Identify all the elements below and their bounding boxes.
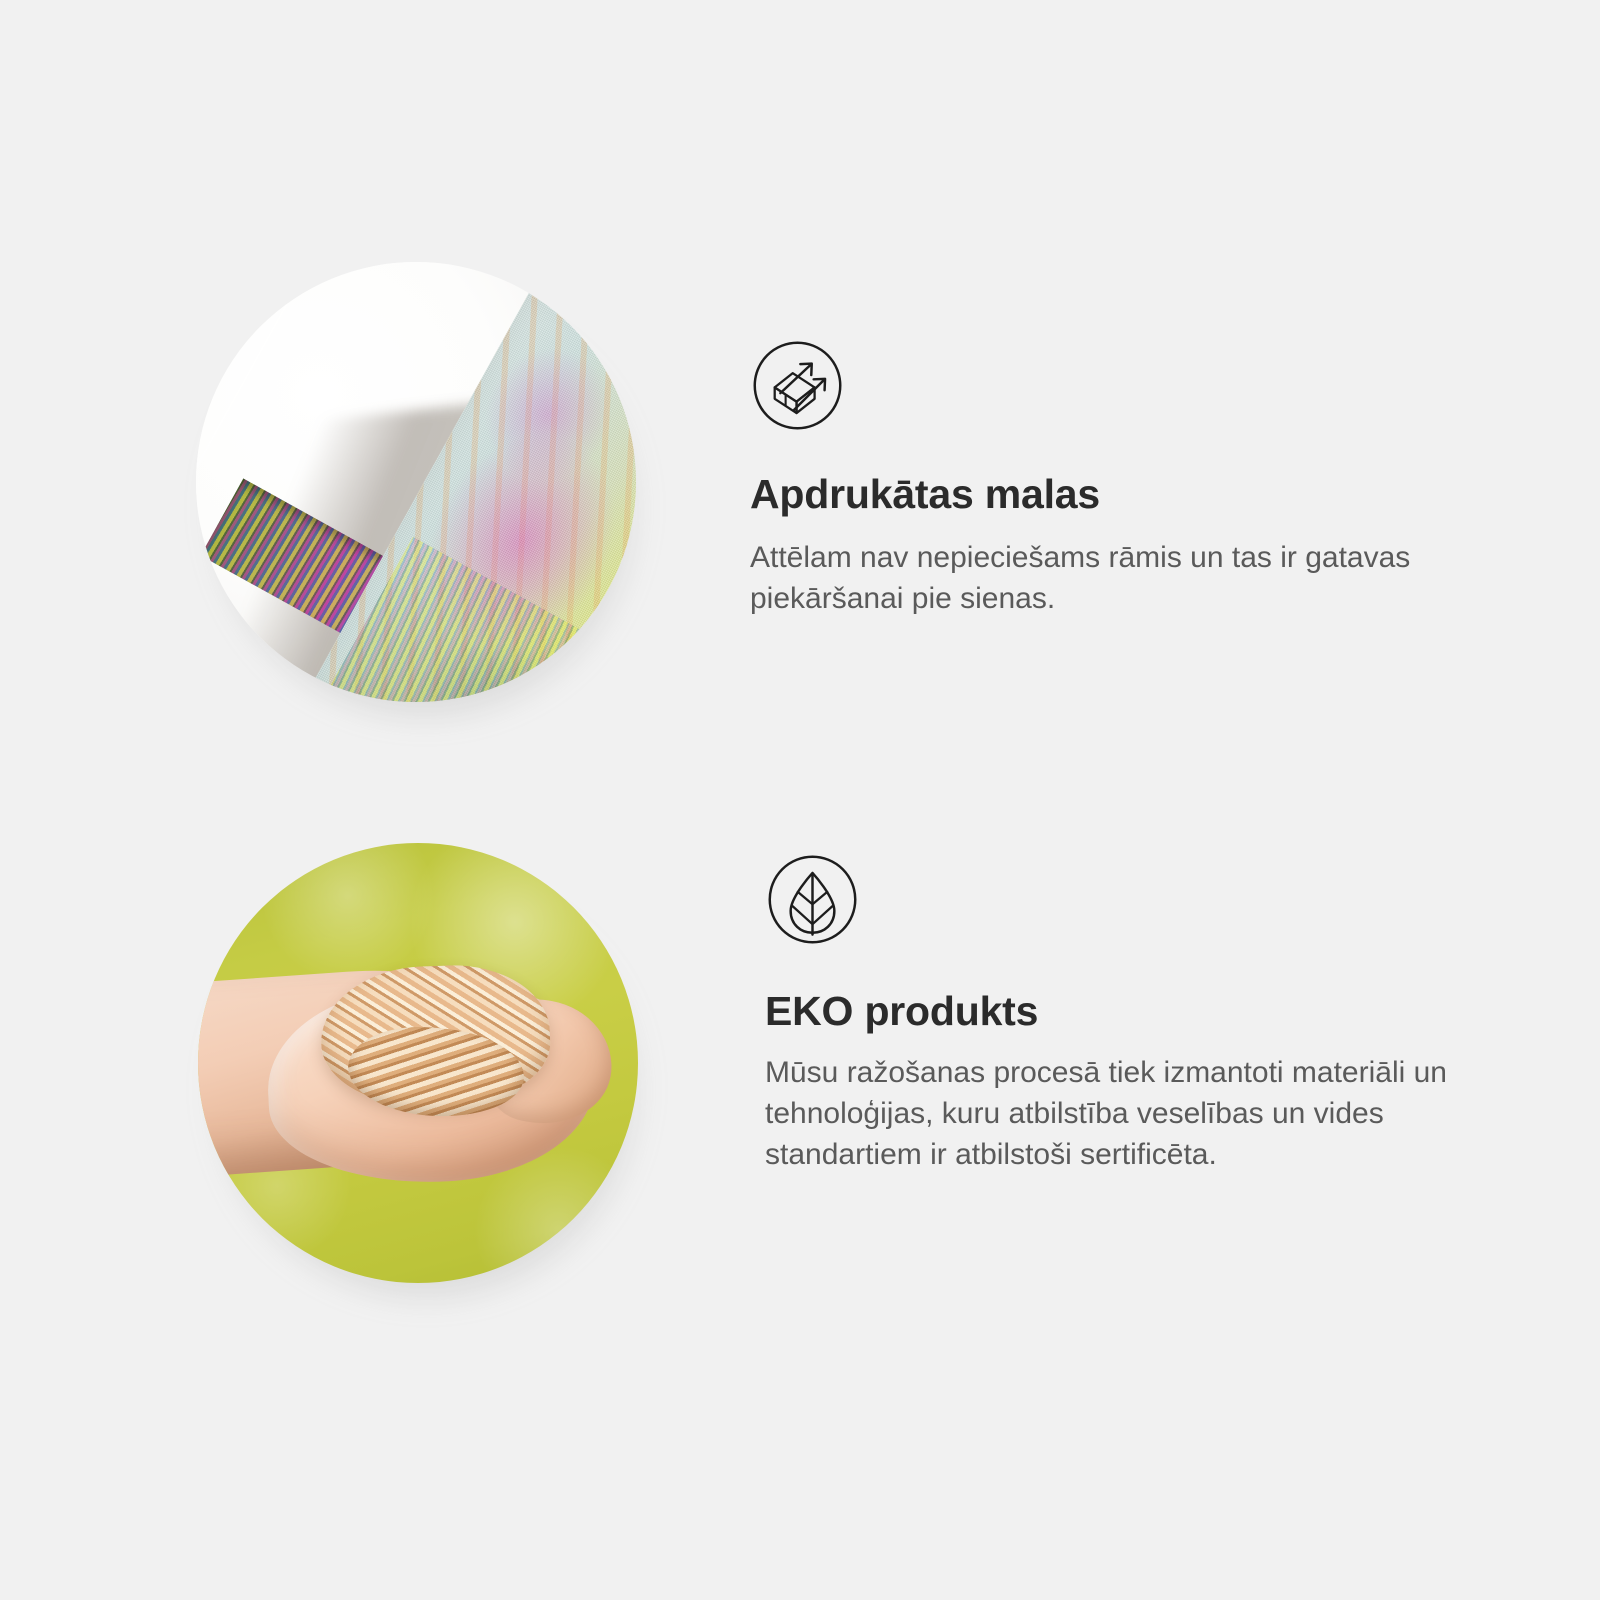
feature-description: Attēlam nav nepieciešams rāmis un tas ir…	[750, 537, 1440, 619]
eco-text: EKO produkts Mūsu ražošanas procesā tiek…	[765, 852, 1485, 1175]
feature-title: EKO produkts	[765, 988, 1485, 1035]
feature-description: Mūsu ražošanas procesā tiek izmantoti ma…	[765, 1052, 1480, 1175]
canvas-corner-photo	[196, 262, 636, 702]
printed-edges-icon	[750, 338, 845, 433]
feature-highlights-page: Apdrukātas malas Attēlam nav nepieciešam…	[0, 0, 1600, 1600]
printed-edges-text: Apdrukātas malas Attēlam nav nepieciešam…	[750, 338, 1450, 619]
feature-title: Apdrukātas malas	[750, 471, 1450, 518]
leaf-icon	[765, 852, 860, 947]
hand-wood-chips-photo	[198, 843, 638, 1283]
eco-media	[198, 843, 668, 1313]
printed-edges-media	[196, 262, 666, 732]
